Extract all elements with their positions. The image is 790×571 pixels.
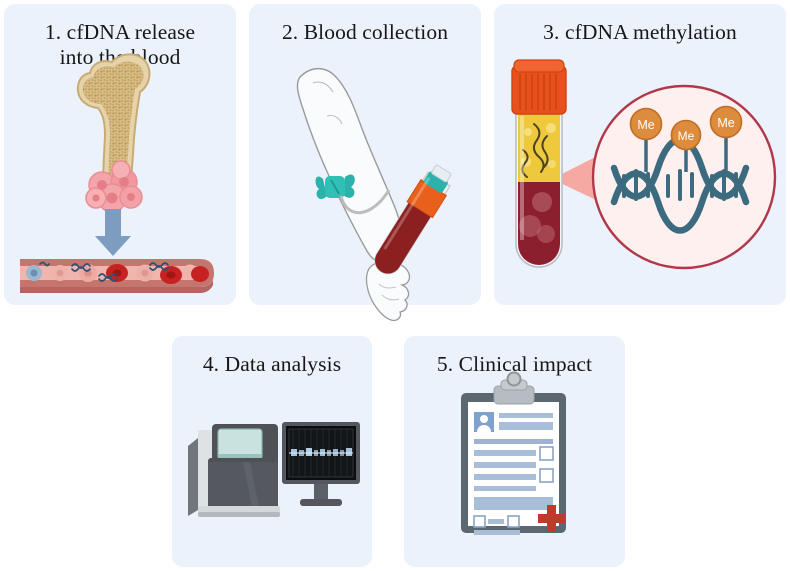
- magnifier-circle-graphic: Me Me Me: [593, 86, 775, 268]
- tube-cap-graphic: [512, 60, 566, 114]
- methyl-label-2: Me: [678, 129, 695, 143]
- panel-data-analysis: 4. Data analysis: [172, 336, 372, 567]
- blood-tube-graphic: [512, 60, 566, 267]
- sequencer-machine-graphic: [188, 424, 280, 517]
- panel-1-illustration: [4, 4, 236, 305]
- panel-blood-collection: 2. Blood collection: [249, 4, 481, 305]
- panel-cfdna-release: 1. cfDNA release into the blood: [4, 4, 236, 305]
- workflow-figure: 1. cfDNA release into the blood: [0, 0, 790, 571]
- panel-cfdna-methylation: 3. cfDNA methylation: [494, 4, 786, 305]
- methyl-label-3: Me: [717, 116, 734, 130]
- form-checkbox-2: [540, 469, 553, 482]
- form-checkbox-3: [474, 516, 485, 527]
- desktop-monitor-graphic: [282, 422, 360, 506]
- form-checkbox-1: [540, 447, 553, 460]
- panel-3-illustration: Me Me Me: [494, 4, 786, 305]
- butterfly-needle-graphic: [316, 174, 355, 199]
- panel-5-illustration: [404, 336, 625, 567]
- panel-clinical-impact: 5. Clinical impact: [404, 336, 625, 567]
- panel-4-illustration: [172, 336, 372, 567]
- form-checkbox-4: [508, 516, 519, 527]
- blood-vessel-graphic: [20, 259, 214, 293]
- panel-2-illustration: [249, 4, 481, 305]
- tumor-cell-cluster-graphic: [86, 161, 142, 212]
- down-arrow-graphic: [95, 209, 131, 256]
- methyl-label-1: Me: [637, 118, 654, 132]
